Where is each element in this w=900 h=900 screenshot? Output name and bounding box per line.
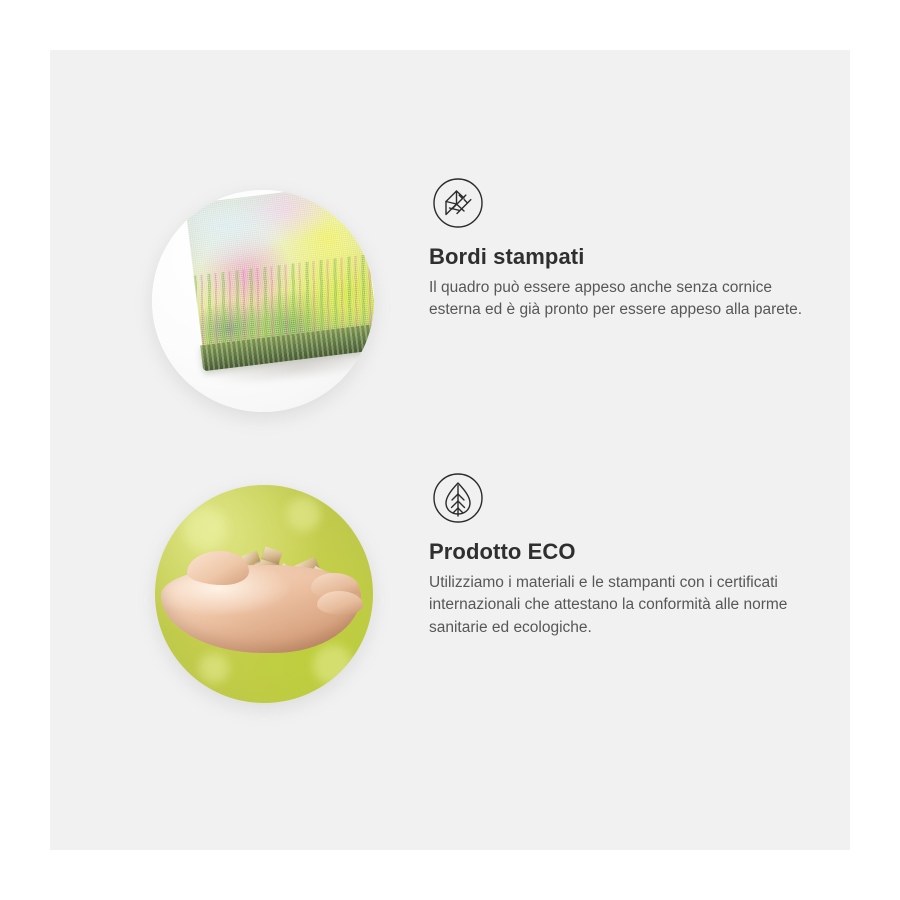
feature-block-printed-edges: Bordi stampati Il quadro può essere appe… [50, 165, 850, 465]
canvas-object [174, 190, 374, 406]
feature-title: Prodotto ECO [429, 538, 819, 566]
finger [317, 591, 363, 615]
bokeh-highlight [287, 497, 321, 531]
leaf-icon [432, 472, 484, 524]
thumb [187, 551, 249, 585]
canvas-printed-edges-icon [432, 177, 484, 229]
wood-chips-hands-photo [155, 485, 373, 703]
feature-title: Bordi stampati [429, 243, 819, 271]
bokeh-highlight [183, 507, 227, 551]
feature-text-eco-product: Prodotto ECO Utilizziamo i materiali e l… [429, 538, 819, 640]
canvas-corner-photo [152, 190, 374, 412]
feature-block-eco-product: Prodotto ECO Utilizziamo i materiali e l… [50, 450, 850, 750]
feature-text-printed-edges: Bordi stampati Il quadro può essere appe… [429, 243, 819, 322]
content-panel: Bordi stampati Il quadro può essere appe… [50, 50, 850, 850]
page-root: Bordi stampati Il quadro può essere appe… [0, 0, 900, 900]
cupped-hands [161, 547, 367, 659]
feature-description: Il quadro può essere appeso anche senza … [429, 277, 819, 323]
feature-description: Utilizziamo i materiali e le stampanti c… [429, 572, 819, 641]
